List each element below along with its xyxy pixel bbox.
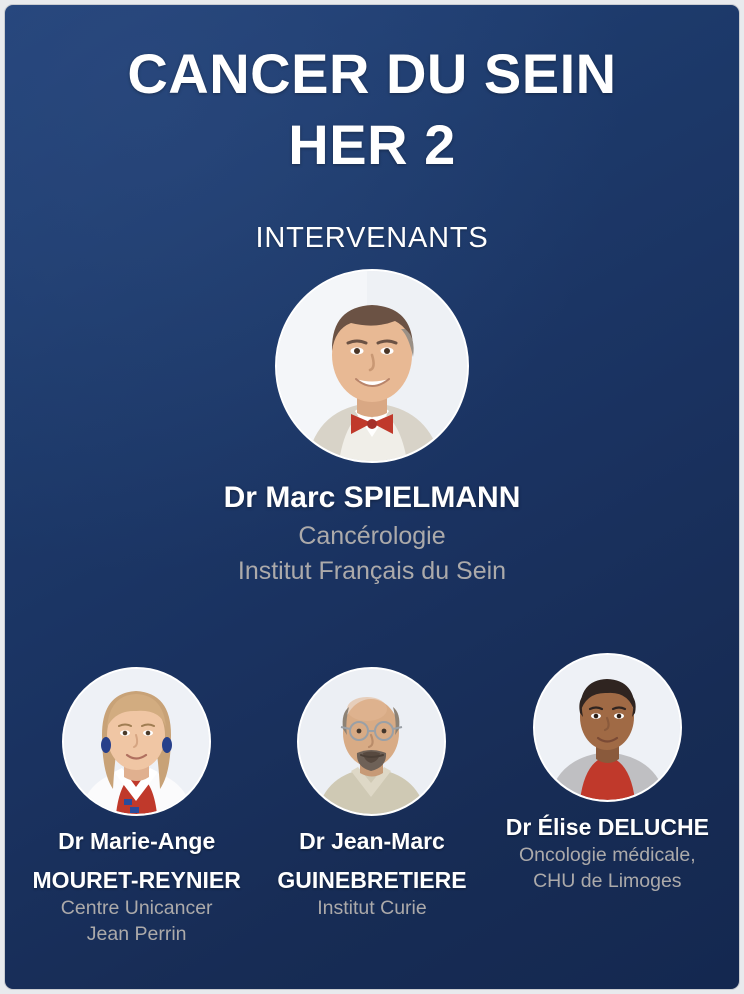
portrait-jean-marc-guinebretiere-icon	[299, 669, 444, 814]
featured-speaker-affiliation-line-2: Institut Français du Sein	[5, 555, 739, 588]
speakers-section-label: INTERVENANTS	[5, 222, 739, 255]
speaker-name-line-1: Dr Marie-Ange	[19, 827, 254, 855]
featured-speaker-card: Dr Marc SPIELMANN Cancérologie Institut …	[5, 269, 739, 588]
speaker-name-line-1: Dr Élise DELUCHE	[490, 813, 725, 841]
speaker-name-line-2: MOURET-REYNIER	[19, 866, 254, 894]
avatar-jean-marc-guinebretiere	[297, 667, 446, 816]
speaker-affiliation-line-2: CHU de Limoges	[490, 869, 725, 893]
speakers-row: Dr Marie-Ange MOURET-REYNIER Centre Unic…	[5, 667, 739, 946]
title-line-1: CANCER DU SEIN	[5, 39, 739, 110]
featured-speaker-name: Dr Marc SPIELMANN	[5, 479, 739, 517]
portrait-marie-ange-mouret-reynier-icon	[64, 669, 209, 814]
slide-title: CANCER DU SEIN HER 2	[5, 39, 739, 180]
speaker-name-line-1: Dr Jean-Marc	[254, 827, 489, 855]
speaker-affiliation-line-2: Jean Perrin	[19, 922, 254, 946]
avatar-marie-ange-mouret-reynier	[62, 667, 211, 816]
avatar-marc-spielmann	[275, 269, 469, 463]
speaker-affiliation-line-1: Institut Curie	[254, 896, 489, 920]
speaker-affiliation-line-1: Oncologie médicale,	[490, 843, 725, 867]
speaker-card-mouret-reynier: Dr Marie-Ange MOURET-REYNIER Centre Unic…	[19, 667, 254, 946]
speaker-affiliation-line-1: Centre Unicancer	[19, 896, 254, 920]
speaker-name-line-2: GUINEBRETIERE	[254, 866, 489, 894]
portrait-marc-spielmann-icon	[277, 271, 467, 461]
speaker-card-guinebretiere: Dr Jean-Marc GUINEBRETIERE Institut Curi…	[254, 667, 489, 946]
title-line-2: HER 2	[5, 110, 739, 181]
portrait-elise-deluche-icon	[535, 655, 680, 800]
featured-speaker-affiliation-line-1: Cancérologie	[5, 520, 739, 553]
presentation-slide: CANCER DU SEIN HER 2 INTERVENANTS	[4, 4, 740, 990]
avatar-elise-deluche	[533, 653, 682, 802]
speaker-card-deluche: Dr Élise DELUCHE Oncologie médicale, CHU…	[490, 653, 725, 946]
